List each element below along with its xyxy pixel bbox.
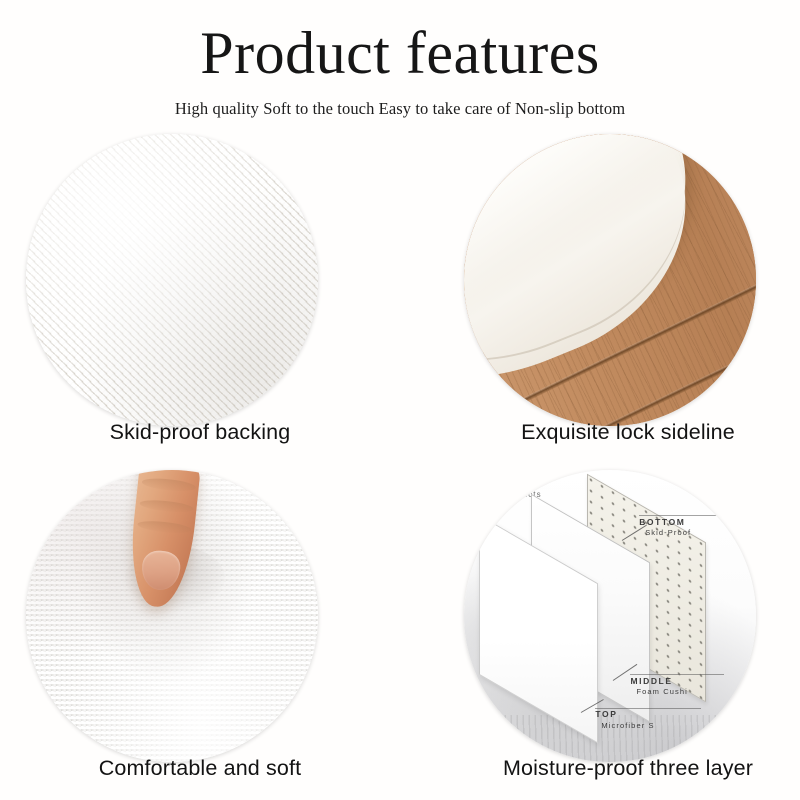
layer-label-bottom-name: BOTTOM — [639, 517, 691, 528]
layer-label-top: TOP Microfiber S — [595, 709, 654, 731]
feature-caption-moisture-proof-three-layer: Moisture-proof three layer — [400, 756, 800, 781]
page-subtitle: High quality Soft to the touch Easy to t… — [0, 99, 800, 119]
feature-image-wrap-4: roducts BOTTOM Skid-Proof — [464, 470, 756, 762]
layer-label-bottom-rule — [639, 515, 738, 516]
page-title: Product features — [0, 22, 800, 85]
layer-label-middle-rule — [630, 674, 723, 675]
page-header: Product features High quality Soft to th… — [0, 0, 800, 119]
feature-cell-moisture-proof-three-layer: roducts BOTTOM Skid-Proof — [400, 464, 800, 800]
moisture-proof-three-layer-photo: roducts BOTTOM Skid-Proof — [464, 470, 756, 762]
feature-image-wrap-2 — [464, 134, 756, 426]
skid-proof-backing-photo — [26, 134, 318, 426]
finger-crease — [141, 477, 196, 493]
finger-crease — [136, 519, 191, 535]
layer-label-middle-name: MIDDLE — [630, 676, 687, 687]
plush-scene — [26, 470, 318, 762]
layer-label-bottom: BOTTOM Skid-Proof — [639, 517, 691, 539]
layer-label-bottom-material: Skid-Proof — [639, 528, 691, 538]
feature-caption-skid-proof-backing: Skid-proof backing — [0, 420, 454, 445]
finger-crease — [138, 498, 193, 514]
feature-image-wrap-3 — [26, 470, 318, 762]
feature-cell-exquisite-lock-sideline: Exquisite lock sideline — [400, 128, 800, 464]
layer-label-middle-material: Foam Cushi — [630, 687, 687, 697]
feature-caption-comfortable-and-soft: Comfortable and soft — [0, 756, 454, 781]
mesh-texture — [26, 134, 318, 426]
feature-cell-comfortable-and-soft: Comfortable and soft — [0, 464, 400, 800]
layer-label-middle: MIDDLE Foam Cushi — [630, 676, 687, 698]
exquisite-lock-sideline-photo — [464, 134, 756, 426]
layer-label-top-material: Microfiber S — [595, 721, 654, 731]
fingertip — [140, 549, 182, 592]
layer-diagram-scene: roducts BOTTOM Skid-Proof — [464, 470, 756, 762]
wood-floor-scene — [464, 134, 756, 426]
layer-label-top-name: TOP — [595, 709, 654, 720]
feature-image-wrap-1 — [26, 134, 318, 426]
comfortable-and-soft-photo — [26, 470, 318, 762]
feature-grid: Skid-proof backing Exquisite lock sideli… — [0, 128, 800, 800]
layer-label-top-rule — [595, 708, 700, 709]
feature-caption-exquisite-lock-sideline: Exquisite lock sideline — [400, 420, 800, 445]
feature-cell-skid-proof-backing: Skid-proof backing — [0, 128, 400, 464]
